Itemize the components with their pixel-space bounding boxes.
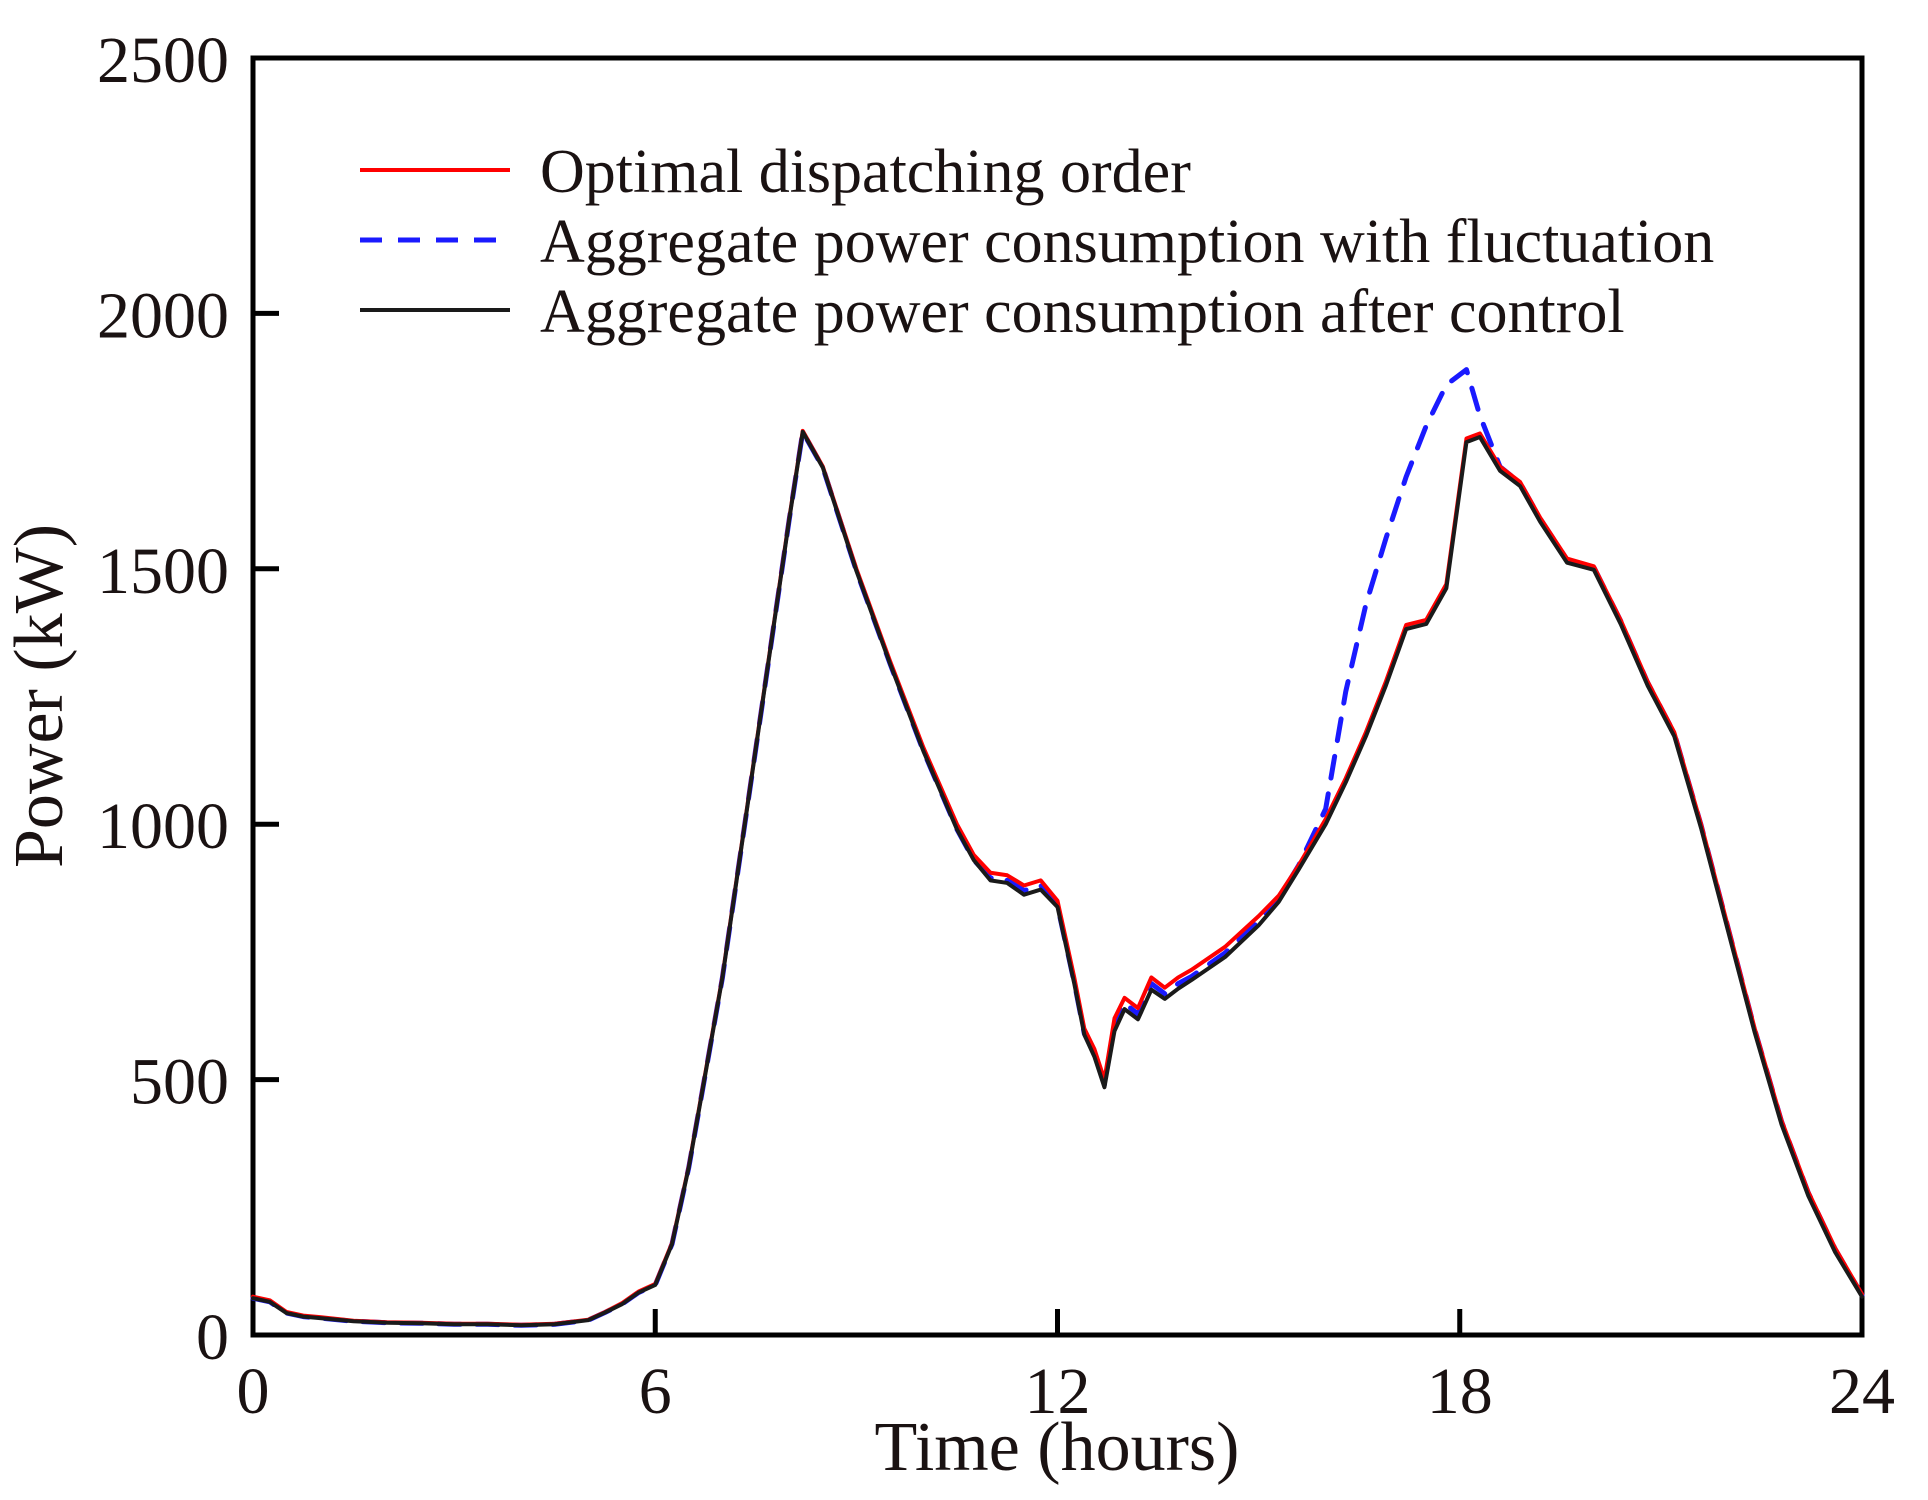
x-axis-tick-label: 6	[639, 1355, 672, 1428]
y-axis-title: Power (kW)	[1, 524, 78, 868]
x-axis-tick-label: 18	[1427, 1355, 1493, 1428]
x-axis-tick-label: 0	[237, 1355, 270, 1428]
y-axis-tick-label: 0	[196, 1301, 229, 1374]
y-axis-tick-label: 500	[130, 1046, 229, 1119]
y-axis-tick-label: 1000	[97, 790, 229, 863]
legend-label-2: Aggregate power consumption after contro…	[540, 278, 1625, 346]
y-axis-tick-label: 1500	[97, 535, 229, 608]
chart-figure: 05001000150020002500 06121824 Optimal di…	[0, 0, 1928, 1500]
y-axis-tick-label: 2000	[97, 279, 229, 352]
legend-label-1: Aggregate power consumption with fluctua…	[540, 208, 1714, 276]
legend-label-0: Optimal dispatching order	[540, 138, 1191, 206]
x-axis-tick-label: 24	[1829, 1355, 1895, 1428]
x-axis-title: Time (hours)	[875, 1409, 1240, 1486]
power-consumption-line-chart: 05001000150020002500 06121824 Optimal di…	[0, 0, 1928, 1500]
y-axis-tick-label: 2500	[97, 24, 229, 97]
